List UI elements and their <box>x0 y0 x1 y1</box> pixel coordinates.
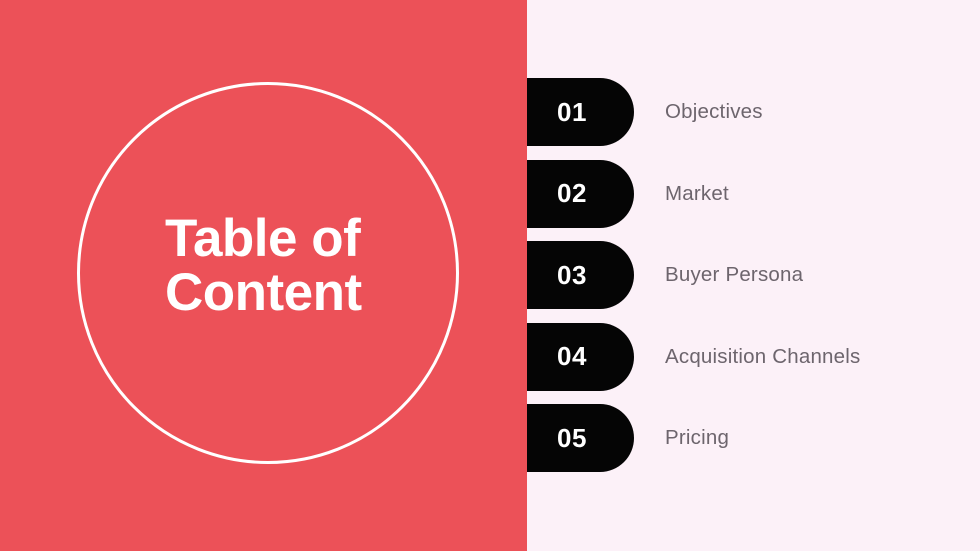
agenda-number: 01 <box>557 97 587 128</box>
agenda-number-pill[interactable]: 04 <box>527 323 634 391</box>
left-red-panel: Table of Content <box>0 0 527 551</box>
agenda-label: Market <box>665 160 729 228</box>
agenda-number: 04 <box>557 341 587 372</box>
agenda-label: Objectives <box>665 78 763 146</box>
agenda-number-pill[interactable]: 02 <box>527 160 634 228</box>
agenda-label: Acquisition Channels <box>665 323 860 391</box>
list-item[interactable]: 04 Acquisition Channels <box>527 323 980 391</box>
list-item[interactable]: 03 Buyer Persona <box>527 241 980 309</box>
agenda-number: 02 <box>557 178 587 209</box>
agenda-label: Pricing <box>665 404 729 472</box>
list-item[interactable]: 01 Objectives <box>527 78 980 146</box>
agenda-number-pill[interactable]: 03 <box>527 241 634 309</box>
agenda-list: 01 Objectives 02 Market 03 Buyer Persona… <box>527 78 980 486</box>
agenda-label: Buyer Persona <box>665 241 803 309</box>
table-of-content-slide: Table of Content 01 Objectives 02 Market… <box>0 0 980 551</box>
agenda-number: 05 <box>557 423 587 454</box>
agenda-number-pill[interactable]: 01 <box>527 78 634 146</box>
list-item[interactable]: 02 Market <box>527 160 980 228</box>
page-title: Table of Content <box>165 212 495 320</box>
list-item[interactable]: 05 Pricing <box>527 404 980 472</box>
agenda-number: 03 <box>557 260 587 291</box>
agenda-number-pill[interactable]: 05 <box>527 404 634 472</box>
